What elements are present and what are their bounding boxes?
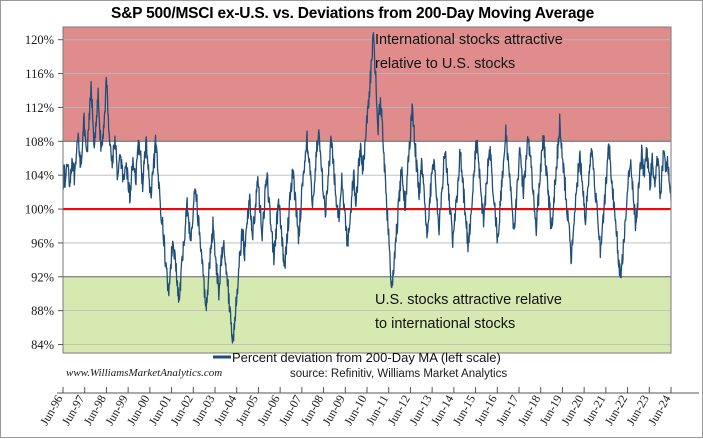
legend: Percent deviation from 200-Day MA (left … xyxy=(213,350,501,365)
y-tick-label: 100% xyxy=(25,203,54,217)
y-tick-label: 88% xyxy=(31,304,54,318)
y-tick-label: 120% xyxy=(25,33,54,47)
y-tick-label: 96% xyxy=(31,236,54,250)
y-tick-label: 112% xyxy=(25,101,54,115)
x-tick-label: Jun-24 xyxy=(645,393,673,428)
annotation-us-line1: U.S. stocks attractive relative xyxy=(375,292,562,308)
y-tick-label: 104% xyxy=(25,169,54,183)
annotation-us-line2: to international stocks xyxy=(375,316,515,332)
chart-frame: S&P 500/MSCI ex-U.S. vs. Deviations from… xyxy=(0,0,703,438)
y-tick-label: 108% xyxy=(25,135,54,149)
y-tick-label: 84% xyxy=(31,338,54,352)
y-tick-label: 116% xyxy=(25,67,54,81)
y-axis-labels: 84%88%92%96%100%104%108%112%116%120% xyxy=(25,33,63,352)
chart-canvas: 84%88%92%96%100%104%108%112%116%120% Jun… xyxy=(1,1,703,439)
y-tick-label: 92% xyxy=(31,270,54,284)
footer-website: www.WilliamsMarketAnalytics.com xyxy=(66,367,222,379)
footer-source: source: Refinitiv, Williams Market Analy… xyxy=(290,368,507,380)
x-axis-labels: Jun-96Jun-97Jun-98Jun-99Jun-00Jun-01Jun-… xyxy=(37,387,699,428)
annotation-international-line1: International stocks attractive xyxy=(375,32,563,48)
legend-label: Percent deviation from 200-Day MA (left … xyxy=(232,350,501,365)
annotation-international-line2: relative to U.S. stocks xyxy=(375,56,515,72)
